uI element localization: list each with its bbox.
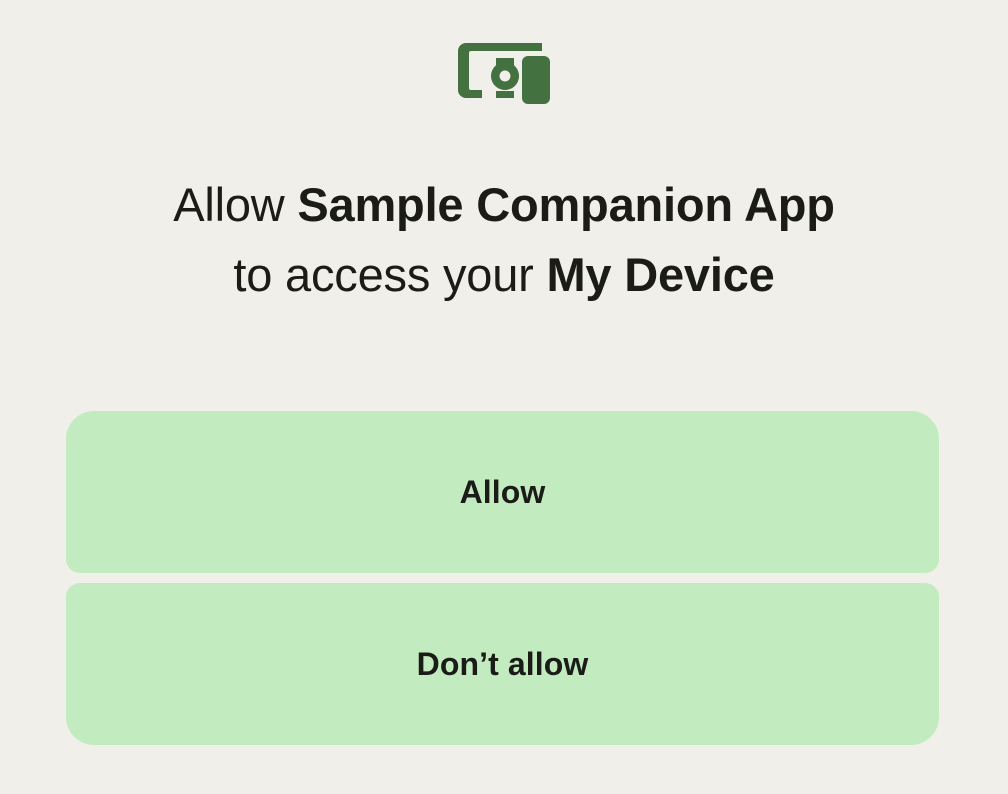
heading-device-name: My Device	[546, 248, 774, 301]
heading-line-2: to access your My Device	[64, 240, 944, 310]
heading-allow-text: Allow	[173, 178, 297, 231]
dialog-action-buttons: Allow Don’t allow	[66, 411, 939, 745]
dont-allow-button[interactable]: Don’t allow	[66, 583, 939, 745]
companion-device-pairing-dialog: Allow Sample Companion App to access you…	[0, 0, 1008, 794]
dialog-heading: Allow Sample Companion App to access you…	[64, 170, 944, 310]
allow-button[interactable]: Allow	[66, 411, 939, 573]
heading-app-name: Sample Companion App	[297, 178, 834, 231]
heading-line-1: Allow Sample Companion App	[64, 170, 944, 240]
heading-access-text: to access your	[233, 248, 546, 301]
companion-devices-icon	[456, 38, 552, 106]
